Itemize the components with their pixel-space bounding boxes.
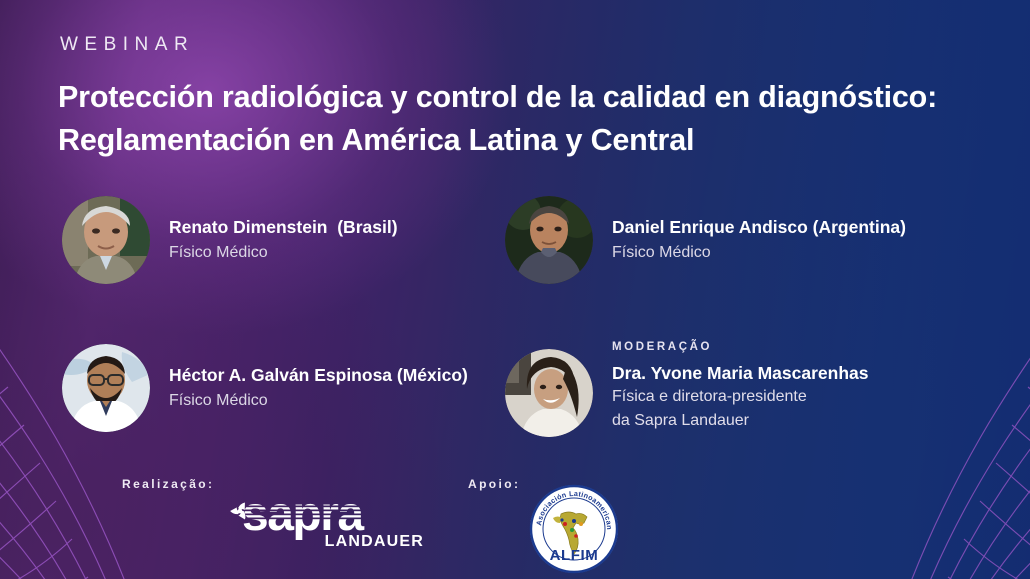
page-title: Protección radiológica y control de la c… xyxy=(58,76,1008,163)
moderator-card: MODERAÇÃO Dra. Yvone Maria Mascarenhas F… xyxy=(505,341,868,437)
webinar-kicker: WEBINAR xyxy=(60,34,194,56)
speaker-role: Físico Médico xyxy=(169,241,398,264)
speaker-name: Renato Dimenstein (Brasil) xyxy=(169,216,398,239)
moderator-role-line2: da Sapra Landauer xyxy=(612,409,868,433)
alfim-logo: Asociación Latinoamericana de Física Méd… xyxy=(529,484,619,574)
speaker-name: Héctor A. Galván Espinosa (México) xyxy=(169,364,468,387)
speaker-card-hector: Héctor A. Galván Espinosa (México) Físic… xyxy=(62,344,468,432)
moderator-role-line1: Física e diretora-presidente xyxy=(612,385,868,409)
moderator-label: MODERAÇÃO xyxy=(612,341,868,353)
sapra-landauer-logo: sapra LANDAUER xyxy=(228,484,428,550)
avatar-photo-hector xyxy=(62,344,150,432)
svg-text:ALFIM: ALFIM xyxy=(550,547,599,564)
speaker-role: Físico Médico xyxy=(612,241,906,264)
speaker-card-daniel: Daniel Enrique Andisco (Argentina) Físic… xyxy=(505,196,906,284)
avatar-photo-daniel xyxy=(505,196,593,284)
webinar-poster: WEBINAR Protección radiológica y control… xyxy=(0,0,1030,579)
moderator-name: Dra. Yvone Maria Mascarenhas xyxy=(612,362,868,385)
realizacao-label: Realização: xyxy=(122,477,214,491)
avatar-photo-yvone xyxy=(505,349,593,437)
speaker-name: Daniel Enrique Andisco (Argentina) xyxy=(612,216,906,239)
speaker-role: Físico Médico xyxy=(169,389,468,412)
apoio-label: Apoio: xyxy=(468,477,520,491)
svg-text:LANDAUER: LANDAUER xyxy=(325,533,424,550)
avatar-photo-renato xyxy=(62,196,150,284)
speaker-card-renato: Renato Dimenstein (Brasil) Físico Médico xyxy=(62,196,398,284)
